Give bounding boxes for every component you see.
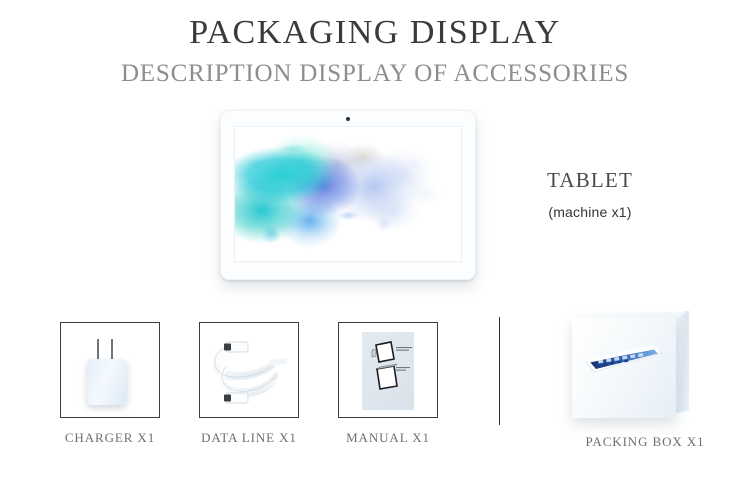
tablet-screen — [234, 126, 462, 262]
page-title: PACKAGING DISPLAY — [0, 14, 750, 51]
tablet-caption: TABLET (machine x1) — [490, 168, 690, 220]
manual-booklet-icon — [339, 323, 438, 418]
accessory-label-charger: CHARGER X1 — [58, 430, 162, 446]
packing-box-icon — [572, 312, 692, 420]
accessory-item-charger: CHARGER X1 — [58, 322, 162, 446]
accessory-item-manual: MANUAL X1 — [336, 322, 440, 446]
accessory-label-data-line: DATA LINE X1 — [197, 430, 301, 446]
data-line-thumbnail — [199, 322, 299, 418]
packing-box-label: PACKING BOX X1 — [560, 434, 730, 450]
manual-thumbnail — [338, 322, 438, 418]
accessory-label-manual: MANUAL X1 — [336, 430, 440, 446]
tablet-caption-subtitle: (machine x1) — [490, 204, 690, 220]
cable-connector-upper — [224, 342, 248, 352]
charger-body-icon — [87, 359, 127, 405]
page-subtitle: DESCRIPTION DISPLAY OF ACCESSORIES — [0, 60, 750, 88]
section-divider — [499, 317, 500, 425]
usb-cable-icon — [200, 323, 299, 418]
wallpaper-fade-top — [235, 127, 461, 261]
packing-box-tablet-graphic — [582, 342, 674, 382]
charger-thumbnail — [60, 322, 160, 418]
packing-box-item: PACKING BOX X1 — [560, 312, 730, 450]
charger-prong-left-icon — [97, 339, 99, 360]
tablet-caption-title: TABLET — [490, 168, 690, 193]
manual-caption-lines — [396, 347, 412, 371]
tablet-device-image — [220, 110, 476, 280]
packing-box-side-panel — [676, 311, 689, 413]
charger-prong-right-icon — [111, 339, 113, 360]
accessory-item-data-line: DATA LINE X1 — [197, 322, 301, 446]
cable-connector-lower — [224, 393, 248, 403]
front-camera-icon — [346, 117, 350, 121]
